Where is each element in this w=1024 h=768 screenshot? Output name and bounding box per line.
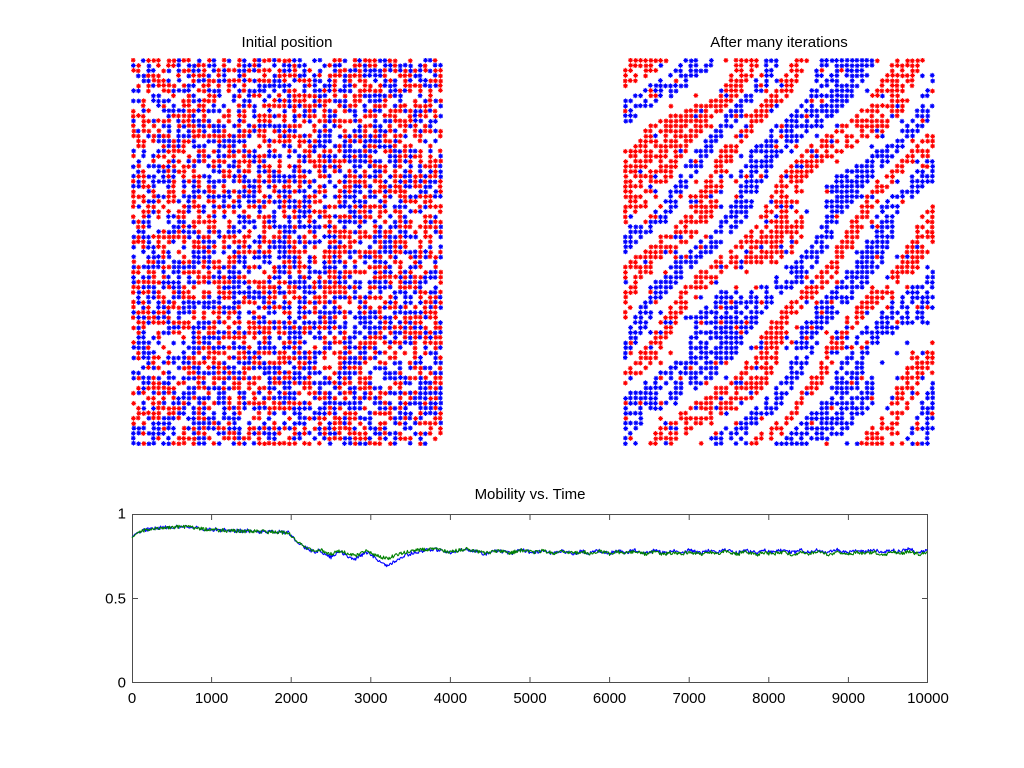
scatter-plot-initial-position [131,58,443,446]
xtick-label-9000: 9000 [832,691,865,706]
xtick-label-5000: 5000 [513,691,546,706]
mobility-plot-surface [132,514,928,683]
scatter-final-canvas [623,58,935,446]
xtick-label-2000: 2000 [275,691,308,706]
mobility-chart-title: Mobility vs. Time [132,487,928,502]
ytick-label-0-5: 0.5 [88,591,126,606]
mobility-vs-time-chart [132,514,928,683]
xtick-label-10000: 10000 [907,691,949,706]
scatter-initial-canvas [131,58,443,446]
xtick-label-3000: 3000 [354,691,387,706]
xtick-label-8000: 8000 [752,691,785,706]
scatter-final-title: After many iterations [623,35,935,50]
xtick-label-4000: 4000 [434,691,467,706]
xtick-label-7000: 7000 [673,691,706,706]
scatter-initial-title: Initial position [131,35,443,50]
ytick-label-0: 0 [88,676,126,691]
ytick-label-1: 1 [88,507,126,522]
xtick-label-0: 0 [128,691,136,706]
scatter-plot-after-many-iterations [623,58,935,446]
xtick-label-6000: 6000 [593,691,626,706]
series-green-mobility [132,525,927,559]
xtick-label-1000: 1000 [195,691,228,706]
